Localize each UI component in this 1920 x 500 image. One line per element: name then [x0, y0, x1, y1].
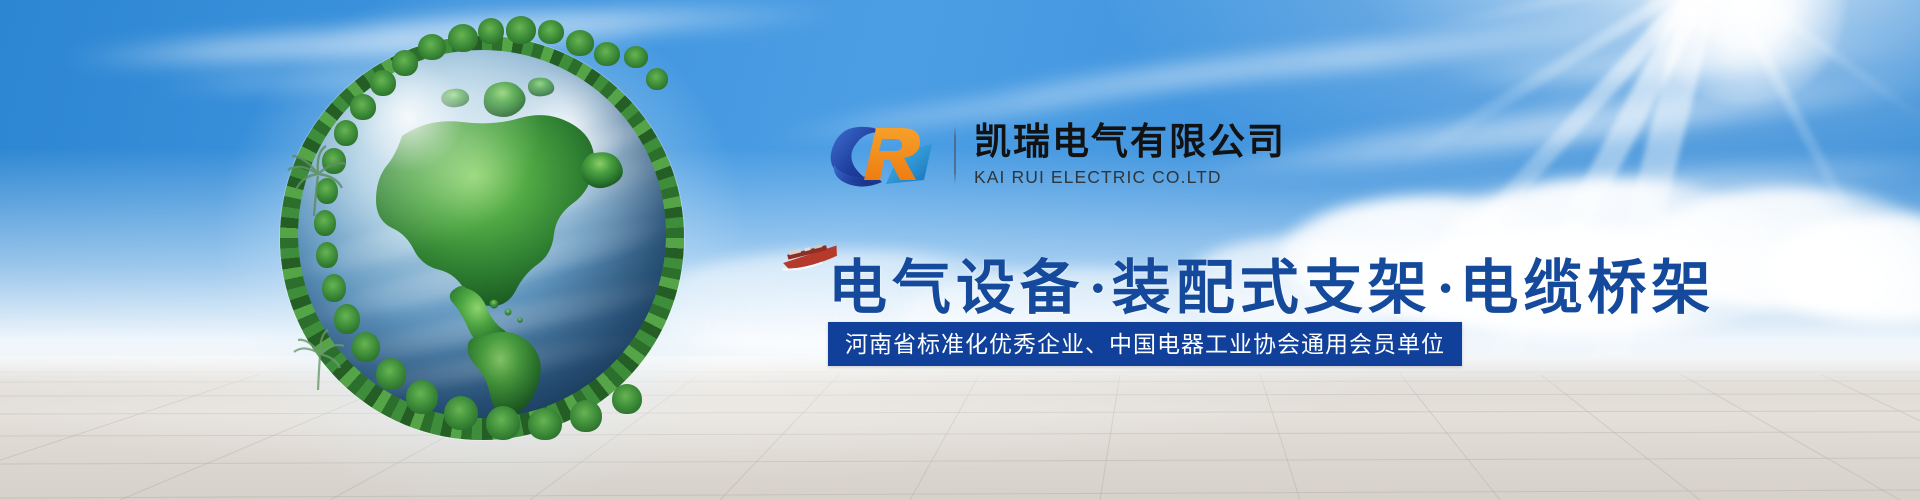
headline-separator: ·: [1432, 255, 1460, 321]
brand-names: 凯瑞电气有限公司 KAI RUI ELECTRIC CO.LTD: [974, 122, 1286, 189]
palm-tree-icon: [288, 320, 348, 400]
logo-divider: [954, 126, 956, 184]
company-name-cn: 凯瑞电气有限公司: [974, 122, 1286, 162]
status-badge: 河南省标准化优秀企业、中国电器工业协会通用会员单位: [828, 322, 1462, 366]
kairui-cr-monogram-icon: [828, 122, 940, 188]
headline-separator: ·: [1084, 255, 1112, 321]
headline-part-2: 装配式支架: [1112, 255, 1432, 321]
page-title: 电气设备·装配式支架·电缆桥架: [828, 240, 1715, 325]
hero-banner: 凯瑞电气有限公司 KAI RUI ELECTRIC CO.LTD 电气设备·装配…: [0, 0, 1920, 500]
status-badge-label: 河南省标准化优秀企业、中国电器工业协会通用会员单位: [845, 333, 1445, 356]
green-earth-globe-icon: [272, 28, 692, 448]
headline-part-1: 电气设备: [828, 255, 1084, 321]
palm-tree-icon: [280, 138, 350, 228]
brand-block: 凯瑞电气有限公司 KAI RUI ELECTRIC CO.LTD: [828, 118, 1588, 192]
logo-row: 凯瑞电气有限公司 KAI RUI ELECTRIC CO.LTD: [828, 118, 1588, 192]
company-name-en: KAI RUI ELECTRIC CO.LTD: [974, 167, 1286, 188]
headline-part-3: 电缆桥架: [1459, 255, 1715, 321]
